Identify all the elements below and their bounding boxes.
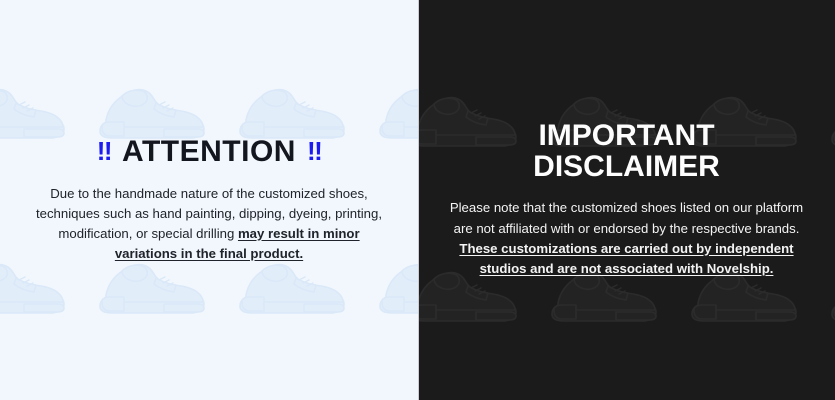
customization-notice-banner: !! ATTENTION !! Due to the handmade natu…	[0, 0, 835, 400]
disclaimer-body-plain: Please note that the customized shoes li…	[450, 200, 803, 235]
disclaimer-heading: IMPORTANT DISCLAIMER	[444, 121, 809, 182]
attention-heading-text: ATTENTION	[122, 136, 296, 168]
disclaimer-heading-line-2: DISCLAIMER	[444, 152, 809, 183]
double-exclamation-left-icon: !!	[97, 138, 111, 165]
disclaimer-heading-line-1: IMPORTANT	[444, 121, 809, 152]
disclaimer-body-emphasis: These customizations are carried out by …	[459, 241, 793, 276]
attention-panel-content: !! ATTENTION !! Due to the handmade natu…	[0, 136, 418, 264]
attention-panel: !! ATTENTION !! Due to the handmade natu…	[0, 0, 418, 400]
attention-heading: !! ATTENTION !!	[26, 136, 392, 168]
disclaimer-panel-content: IMPORTANT DISCLAIMER Please note that th…	[418, 121, 835, 278]
disclaimer-panel: IMPORTANT DISCLAIMER Please note that th…	[418, 0, 835, 400]
double-exclamation-right-icon: !!	[307, 138, 321, 165]
disclaimer-body-text: Please note that the customized shoes li…	[444, 198, 809, 278]
attention-body-text: Due to the handmade nature of the custom…	[26, 184, 392, 264]
